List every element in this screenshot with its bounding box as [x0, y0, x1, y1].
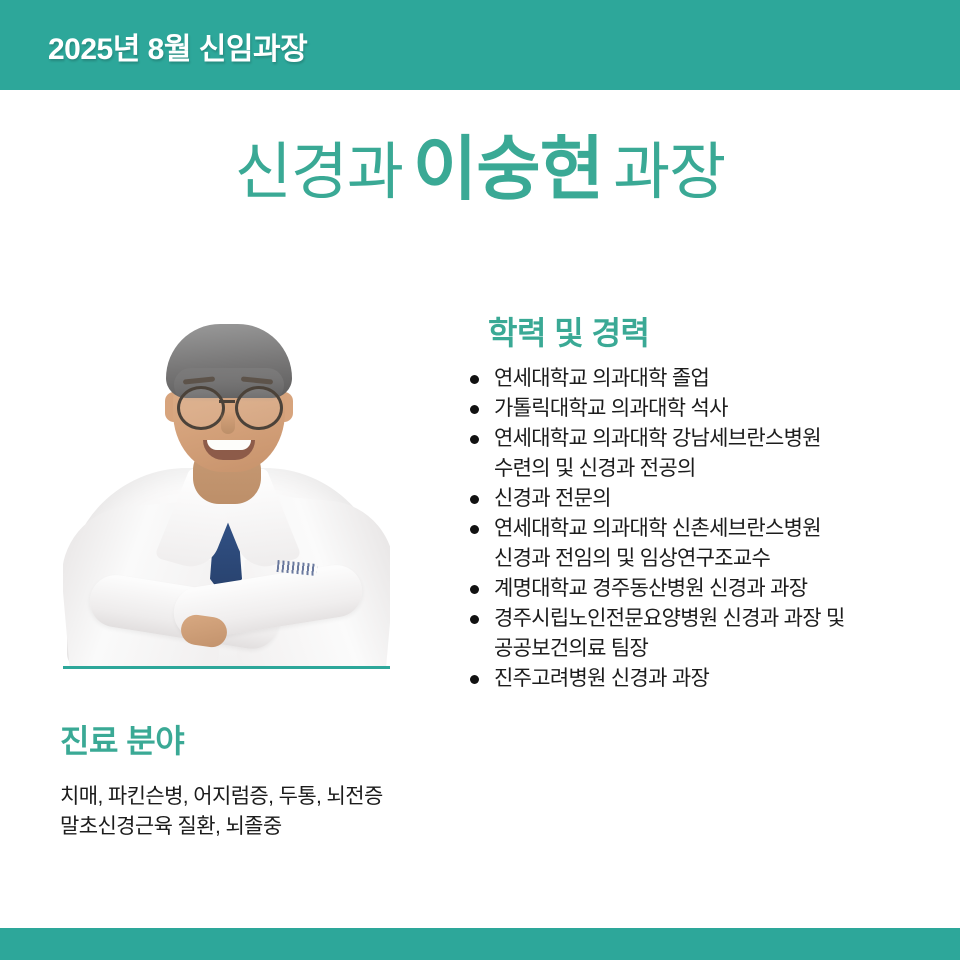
specialty-list: 치매, 파킨슨병, 어지럼증, 두통, 뇌전증 말초신경근육 질환, 뇌졸중 [60, 782, 460, 842]
list-item: 신경과 전문의 [466, 484, 946, 514]
specialty-line: 치매, 파킨슨병, 어지럼증, 두통, 뇌전증 [60, 782, 460, 812]
list-item: 연세대학교 의과대학 강남세브란스병원 수련의 및 신경과 전공의 [466, 424, 946, 484]
list-item: 경주시립노인전문요양병원 신경과 과장 및 공공보건의료 팀장 [466, 604, 946, 664]
career-line: 연세대학교 의과대학 신촌세브란스병원 [494, 514, 946, 544]
doctor-intro-card: 2025년 8월 신임과장 신경과이숭현과장 [0, 0, 960, 960]
career-list: 연세대학교 의과대학 졸업 가톨릭대학교 의과대학 석사 연세대학교 의과대학 … [466, 364, 946, 694]
header-band: 2025년 8월 신임과장 [0, 0, 960, 90]
doctor-portrait-illustration [63, 300, 390, 666]
career-line: 공공보건의료 팀장 [494, 634, 946, 664]
career-heading: 학력 및 경력 [488, 308, 649, 354]
bullet-icon [470, 585, 479, 594]
career-line: 경주시립노인전문요양병원 신경과 과장 및 [494, 604, 946, 634]
specialty-heading: 진료 분야 [60, 716, 184, 762]
doctor-photo [63, 300, 390, 666]
footer-band [0, 928, 960, 960]
bullet-icon [470, 615, 479, 624]
section-divider [63, 666, 390, 669]
header-title: 2025년 8월 신임과장 [48, 24, 307, 68]
teeth [207, 440, 251, 450]
page-title: 신경과이숭현과장 [0, 134, 960, 204]
career-line: 신경과 전문의 [494, 484, 946, 514]
hair [166, 324, 292, 398]
career-line: 가톨릭대학교 의과대학 석사 [494, 394, 946, 424]
headline-department: 신경과 [235, 138, 403, 207]
career-line: 수련의 및 신경과 전공의 [494, 454, 946, 484]
eyeglasses-lens-right [235, 386, 283, 430]
list-item: 연세대학교 의과대학 졸업 [466, 364, 946, 394]
specialty-line: 말초신경근육 질환, 뇌졸중 [60, 812, 460, 842]
career-line: 신경과 전임의 및 임상연구조교수 [494, 544, 946, 574]
bullet-icon [470, 435, 479, 444]
eyeglasses-bridge [219, 400, 235, 403]
list-item: 연세대학교 의과대학 신촌세브란스병원 신경과 전임의 및 임상연구조교수 [466, 514, 946, 574]
bullet-icon [470, 525, 479, 534]
bullet-icon [470, 675, 479, 684]
nose [221, 412, 235, 434]
list-item: 가톨릭대학교 의과대학 석사 [466, 394, 946, 424]
career-line: 연세대학교 의과대학 졸업 [494, 364, 946, 394]
bullet-icon [470, 375, 479, 384]
bullet-icon [470, 405, 479, 414]
career-line: 계명대학교 경주동산병원 신경과 과장 [494, 574, 946, 604]
eyeglasses-lens-left [177, 386, 225, 430]
headline-name: 이숭현 [413, 130, 603, 208]
list-item: 진주고려병원 신경과 과장 [466, 664, 946, 694]
headline-rank: 과장 [613, 138, 725, 207]
bullet-icon [470, 495, 479, 504]
career-line: 연세대학교 의과대학 강남세브란스병원 [494, 424, 946, 454]
career-line: 진주고려병원 신경과 과장 [494, 664, 946, 694]
list-item: 계명대학교 경주동산병원 신경과 과장 [466, 574, 946, 604]
